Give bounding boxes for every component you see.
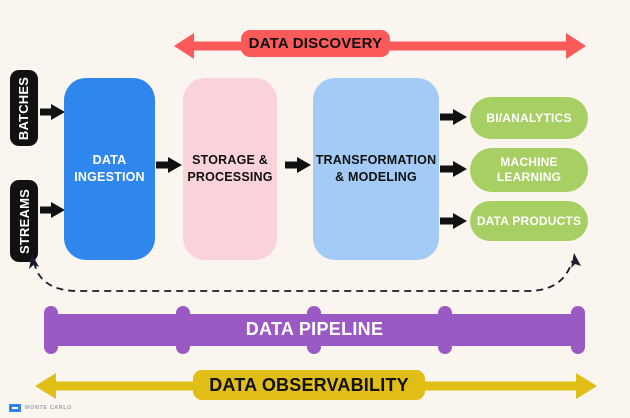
output-label-line1: MACHINE (497, 155, 561, 170)
arrow-streams-to-ingestion (40, 199, 66, 221)
source-tag-streams-label: STREAMS (17, 189, 32, 254)
stage-box-data-ingestion[interactable]: DATA INGESTION (64, 78, 155, 260)
monte-carlo-logo-text: MONTE CARLO (25, 405, 72, 411)
stage-label-line2: & MODELING (316, 169, 437, 186)
stage-box-transformation-modeling[interactable]: TRANSFORMATION & MODELING (313, 78, 439, 260)
data-discovery-label: DATA DISCOVERY (249, 35, 383, 52)
output-pill-data-products[interactable]: DATA PRODUCTS (470, 201, 588, 241)
output-pill-machine-learning-text: MACHINE LEARNING (497, 155, 561, 185)
source-tag-batches[interactable]: BATCHES (10, 70, 38, 146)
stage-box-data-ingestion-text: DATA INGESTION (74, 152, 145, 186)
arrow-transformation-to-bi-analytics (440, 106, 468, 128)
stage-label-line2: PROCESSING (187, 169, 272, 186)
stage-box-transformation-modeling-text: TRANSFORMATION & MODELING (316, 152, 437, 186)
monte-carlo-logo: MONTE CARLO (9, 404, 72, 412)
stage-label-line1: TRANSFORMATION (316, 152, 437, 169)
arrow-storage-to-transformation (285, 154, 312, 176)
stage-label-line1: DATA (74, 152, 145, 169)
source-tag-batches-label: BATCHES (17, 76, 32, 139)
data-observability-label-box: DATA OBSERVABILITY (193, 370, 425, 400)
monte-carlo-logo-icon (9, 404, 21, 412)
stage-label-line1: STORAGE & (187, 152, 272, 169)
output-label-line1: DATA PRODUCTS (477, 214, 581, 229)
diagram-canvas: DATA DISCOVERY BATCHES STREAMS DATA INGE… (0, 0, 630, 418)
output-label-line1: BI/ANALYTICS (486, 111, 571, 126)
arrow-transformation-to-machine-learning (440, 158, 468, 180)
arrow-ingestion-to-storage (156, 154, 183, 176)
stage-label-line2: INGESTION (74, 169, 145, 186)
stage-box-storage-processing-text: STORAGE & PROCESSING (187, 152, 272, 186)
feedback-loop-dashed-arrow (18, 252, 588, 310)
data-observability-label: DATA OBSERVABILITY (209, 375, 409, 396)
output-pill-bi-analytics[interactable]: BI/ANALYTICS (470, 97, 588, 139)
output-pill-machine-learning[interactable]: MACHINE LEARNING (470, 148, 588, 192)
output-pill-data-products-text: DATA PRODUCTS (477, 214, 581, 229)
arrow-transformation-to-data-products (440, 210, 468, 232)
arrow-batches-to-ingestion (40, 101, 66, 123)
stage-box-storage-processing[interactable]: STORAGE & PROCESSING (183, 78, 277, 260)
data-pipeline-label: DATA PIPELINE (44, 319, 585, 340)
output-label-line2: LEARNING (497, 170, 561, 185)
source-tag-streams[interactable]: STREAMS (10, 180, 38, 262)
data-discovery-label-box: DATA DISCOVERY (241, 30, 390, 57)
output-pill-bi-analytics-text: BI/ANALYTICS (486, 111, 571, 126)
